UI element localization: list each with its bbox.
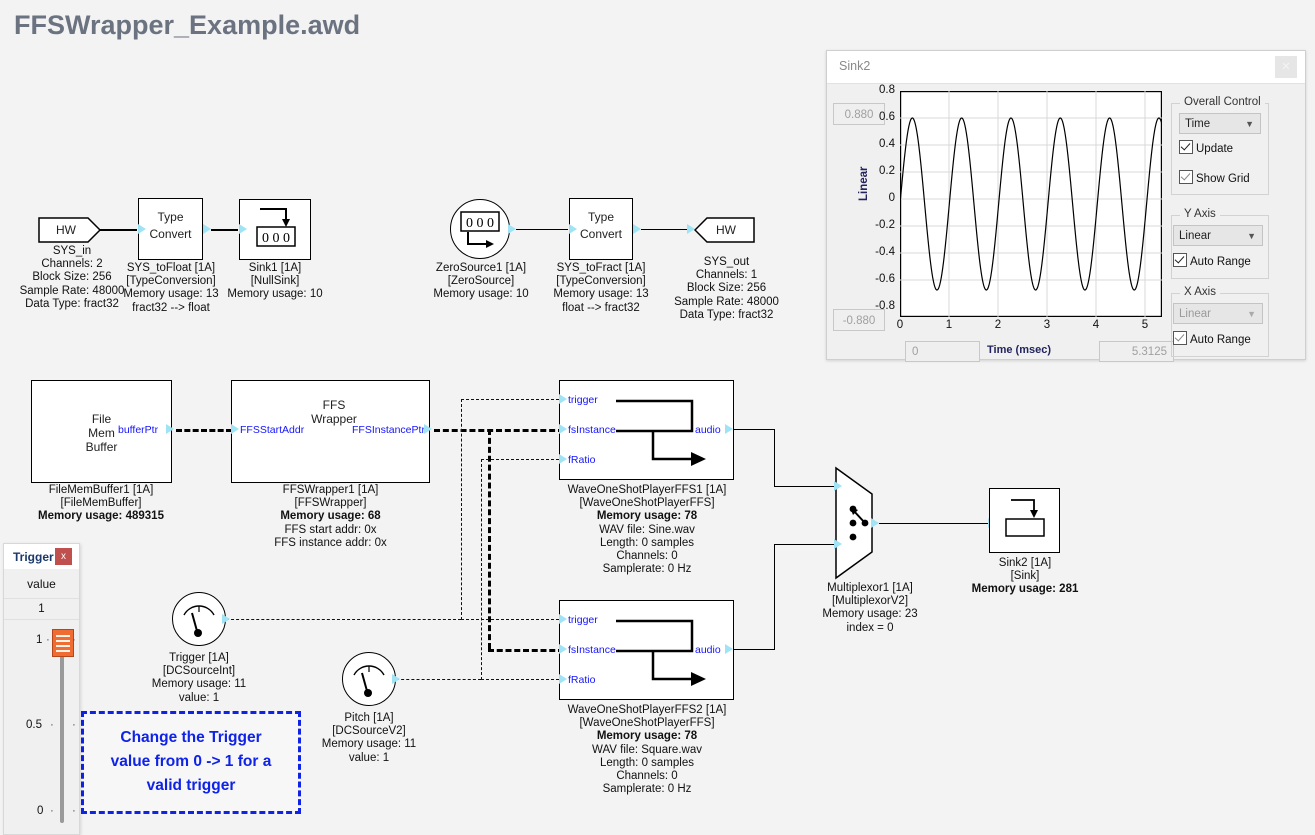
- trigger-param-value[interactable]: 1: [4, 599, 79, 620]
- chevron-down-icon: ▼: [1247, 304, 1256, 324]
- svg-text:0 0 0: 0 0 0: [466, 216, 494, 231]
- block-sink2[interactable]: [989, 488, 1060, 553]
- trigger-slider[interactable]: 1 · · 0.5 · · 0 · ·: [4, 622, 79, 834]
- wire-trigger-h1: [226, 619, 461, 620]
- x-scale-select-value: Linear: [1179, 308, 1211, 320]
- trigger-panel[interactable]: Trigger x value 1 1 · · 0.5 · · 0 · ·: [3, 543, 80, 835]
- port-out-audio-1[interactable]: [725, 424, 733, 434]
- port-label-fratio-1: fRatio: [568, 454, 595, 466]
- port-label-audio-2: audio: [695, 644, 721, 656]
- wire-pitch-vert: [481, 459, 482, 680]
- port-label-fratio-2: fRatio: [568, 674, 595, 686]
- port-label-fsinstance-1: fsInstance: [568, 424, 616, 436]
- wire-pitch-h1: [396, 679, 481, 680]
- meter-icon: [173, 593, 225, 645]
- meter-icon: [343, 653, 395, 705]
- port-label-bufferptr: bufferPtr: [118, 424, 158, 436]
- trigger-source-label: Trigger [1A] [DCSourceInt] Memory usage:…: [143, 652, 255, 705]
- x-tick: 0: [890, 319, 910, 331]
- port-out-trigger-source[interactable]: [222, 614, 230, 624]
- port-in-fsinstance-2[interactable]: [559, 644, 567, 654]
- close-icon[interactable]: x: [55, 548, 72, 565]
- slider-tickmark-max: ·: [46, 634, 50, 646]
- wire-pitch-h-top: [481, 459, 564, 460]
- waveoneshot2-label: WaveOneShotPlayerFFS2 [1A] [WaveOneShotP…: [560, 704, 734, 796]
- pitch-source-label: Pitch [1A] [DCSourceV2] Memory usage: 11…: [313, 712, 425, 765]
- bus-ffsinstance-bottom: [488, 649, 564, 652]
- waveform-plot: [900, 91, 1162, 317]
- wire-audio1-b: [774, 486, 836, 487]
- y-tick: -0.8: [867, 300, 895, 312]
- wire-audio2-b: [774, 544, 836, 545]
- y-auto-range-label: Auto Range: [1190, 256, 1251, 268]
- sink2-window-title: Sink2: [839, 59, 870, 73]
- port-out-audio-2[interactable]: [725, 644, 733, 654]
- checkbox-box: [1179, 140, 1193, 154]
- wire-trigger-vert: [461, 399, 462, 620]
- x-tick: 1: [939, 319, 959, 331]
- waveoneshot1-label: WaveOneShotPlayerFFS1 [1A] [WaveOneShotP…: [560, 484, 734, 576]
- x-scale-select: Linear ▼: [1173, 303, 1263, 324]
- null-sink-icon: 0 0 0: [240, 200, 310, 259]
- block-sys-tofract[interactable]: Type Convert: [569, 198, 633, 260]
- zerosource1-label: ZeroSource1 [1A] [ZeroSource] Memory usa…: [425, 262, 537, 302]
- y-tick: -0.2: [867, 219, 895, 231]
- bus-ffsinstance-vert: [488, 429, 491, 649]
- wire-audio2-v: [774, 544, 775, 650]
- wire-zerosource-tofract: [516, 229, 568, 230]
- wire-pitch-h-bottom: [481, 679, 564, 680]
- y-tick: -0.6: [867, 273, 895, 285]
- annotation-note-text: Change the Trigger value from 0 -> 1 for…: [84, 726, 298, 798]
- wire-audio1-a: [733, 429, 775, 430]
- port-in-fsinstance-1[interactable]: [559, 424, 567, 434]
- x-axis-label: Time (msec): [987, 344, 1051, 356]
- slider-tickmark-max-r: ·: [72, 634, 76, 646]
- sys-tofloat-label: SYS_toFloat [1A] [TypeConversion] Memory…: [110, 262, 232, 315]
- slider-tickmark-min-r: ·: [72, 805, 76, 817]
- port-label-trigger-1: trigger: [568, 394, 598, 406]
- y-scale-select[interactable]: Linear ▼: [1173, 225, 1263, 246]
- wire-tofloat-sink1: [211, 229, 238, 231]
- x-tick: 2: [988, 319, 1008, 331]
- y-tick: 0.8: [867, 84, 895, 96]
- slider-tickmark-min: ·: [50, 805, 54, 817]
- wire-sysin-tofloat: [100, 229, 137, 231]
- x-auto-range-checkbox[interactable]: Auto Range: [1173, 331, 1251, 346]
- sys-out-label: SYS_out Channels: 1 Block Size: 256 Samp…: [649, 256, 804, 322]
- slider-track[interactable]: [60, 639, 64, 823]
- x-max-readout: 5.3125: [1099, 341, 1174, 362]
- port-in-trigger-2[interactable]: [559, 614, 567, 624]
- x-tick: 5: [1135, 319, 1155, 331]
- filemembuffer1-label: FileMemBuffer1 [1A] [FileMemBuffer] Memo…: [20, 484, 182, 524]
- wire-trigger-h-top: [461, 399, 564, 400]
- port-in-sink1[interactable]: [239, 224, 247, 234]
- port-label-trigger-2: trigger: [568, 614, 598, 626]
- wire-mux-sink2: [879, 523, 989, 524]
- annotation-note[interactable]: Change the Trigger value from 0 -> 1 for…: [81, 711, 301, 814]
- port-label-audio-1: audio: [695, 424, 721, 436]
- port-in-ffswrapper1[interactable]: [231, 424, 239, 434]
- update-checkbox[interactable]: Update: [1179, 140, 1233, 155]
- port-label-fsinstance-2: fsInstance: [568, 644, 616, 656]
- mode-select[interactable]: Time ▼: [1179, 113, 1261, 134]
- sink2-titlebar[interactable]: Sink2 ✕: [827, 51, 1305, 84]
- port-in-mux-2[interactable]: [834, 539, 842, 549]
- sys-in-glyph: HW: [38, 223, 94, 237]
- sink1-label: Sink1 [1A] [NullSink] Memory usage: 10: [215, 262, 335, 302]
- y-tick: -0.4: [867, 246, 895, 258]
- y-tick: 0: [867, 192, 895, 204]
- show-grid-checkbox[interactable]: Show Grid: [1179, 170, 1250, 185]
- wire-bufferptr-ffsstart: [176, 429, 232, 432]
- checkbox-box: [1173, 331, 1187, 345]
- y-scale-select-value: Linear: [1179, 230, 1211, 242]
- y-tick-labels: 0.8 0.6 0.4 0.2 0 -0.2 -0.4 -0.6 -0.8: [867, 91, 895, 311]
- trigger-panel-header: Trigger x: [4, 544, 79, 569]
- port-in-sys-tofract[interactable]: [569, 224, 577, 234]
- block-trigger-source[interactable]: [172, 592, 226, 646]
- y-tick: 0.4: [867, 138, 895, 150]
- y-tick: 0.6: [867, 111, 895, 123]
- block-sys-tofloat[interactable]: Type Convert: [138, 198, 203, 260]
- block-sink1[interactable]: 0 0 0: [239, 199, 311, 260]
- wire-trigger-h-bottom: [461, 619, 564, 620]
- x-min-readout: 0: [905, 341, 980, 362]
- port-in-sys-tofloat[interactable]: [138, 224, 146, 234]
- mode-select-value: Time: [1185, 118, 1210, 130]
- zero-source-icon: 0 0 0: [451, 200, 509, 258]
- port-label-ffsinstanceptr: FFSInstancePtr: [352, 424, 425, 436]
- wire-audio2-a: [733, 649, 775, 650]
- port-out-sys-tofloat[interactable]: [203, 224, 211, 234]
- slider-tick-min: 0: [37, 805, 43, 817]
- y-tick: 0.2: [867, 165, 895, 177]
- sink2-block-label: Sink2 [1A] [Sink] Memory usage: 281: [955, 557, 1095, 597]
- slider-tick-max: 1: [36, 634, 42, 646]
- port-out-mux[interactable]: [871, 518, 879, 528]
- x-auto-range-label: Auto Range: [1190, 334, 1251, 346]
- chevron-down-icon: ▼: [1247, 226, 1256, 246]
- ffswrapper1-label: FFSWrapper1 [1A] [FFSWrapper] Memory usa…: [248, 484, 413, 550]
- checkbox-box: [1179, 170, 1193, 184]
- x-tick-labels: 0 1 2 3 4 5: [900, 319, 1162, 335]
- wire-tofract-sysout: [641, 229, 688, 230]
- port-in-fratio-2[interactable]: [559, 674, 567, 684]
- port-label-ffsstartaddr: FFSStartAddr: [240, 424, 304, 436]
- block-pitch-source[interactable]: [342, 652, 396, 706]
- port-out-ffswrapper1[interactable]: [424, 424, 432, 434]
- checkbox-box: [1173, 253, 1187, 267]
- svg-text:0 0 0: 0 0 0: [262, 231, 290, 246]
- x-tick: 3: [1037, 319, 1057, 331]
- y-axis-title: Y Axis: [1180, 208, 1220, 220]
- y-min-readout: -0.880: [833, 309, 885, 331]
- port-in-trigger-1[interactable]: [559, 394, 567, 404]
- wire-audio1-v: [774, 429, 775, 486]
- chevron-down-icon: ▼: [1245, 114, 1254, 134]
- overall-control-title: Overall Control: [1180, 96, 1265, 108]
- port-out-filemembuffer1[interactable]: [166, 424, 174, 434]
- show-grid-checkbox-label: Show Grid: [1196, 173, 1250, 185]
- sink2-window[interactable]: Sink2 ✕ 0.880 -0.880 0 5.3125 Linear Tim…: [826, 50, 1306, 360]
- port-out-zerosource1[interactable]: [508, 224, 516, 234]
- slider-thumb[interactable]: [52, 629, 74, 657]
- page-title: FFSWrapper_Example.awd: [14, 10, 360, 41]
- diagram-canvas: FFSWrapper_Example.awd HW SYS_in Channel…: [0, 0, 1315, 835]
- sink-icon: [990, 489, 1059, 552]
- port-in-mux-1[interactable]: [834, 481, 842, 491]
- sys-tofract-label: SYS_toFract [1A] [TypeConversion] Memory…: [541, 262, 661, 315]
- x-axis-title: X Axis: [1180, 286, 1220, 298]
- slider-tickmark-mid: ·: [50, 719, 54, 731]
- y-auto-range-checkbox[interactable]: Auto Range: [1173, 253, 1251, 268]
- sys-out-glyph: HW: [700, 223, 752, 237]
- slider-tick-mid: 0.5: [26, 719, 42, 731]
- bus-ffsinstance-top: [434, 429, 564, 432]
- slider-tickmark-mid-r: ·: [72, 719, 76, 731]
- port-in-fratio-1[interactable]: [559, 454, 567, 464]
- trigger-panel-title: Trigger: [13, 550, 54, 564]
- multiplexor1-label: Multiplexor1 [1A] [MultiplexorV2] Memory…: [800, 582, 940, 635]
- x-tick: 4: [1086, 319, 1106, 331]
- close-icon[interactable]: ✕: [1275, 56, 1297, 78]
- port-out-sys-tofract[interactable]: [633, 224, 641, 234]
- block-zerosource1[interactable]: 0 0 0: [450, 199, 510, 259]
- trigger-param-label: value: [4, 570, 79, 599]
- update-checkbox-label: Update: [1196, 143, 1233, 155]
- port-out-pitch-source[interactable]: [392, 674, 400, 684]
